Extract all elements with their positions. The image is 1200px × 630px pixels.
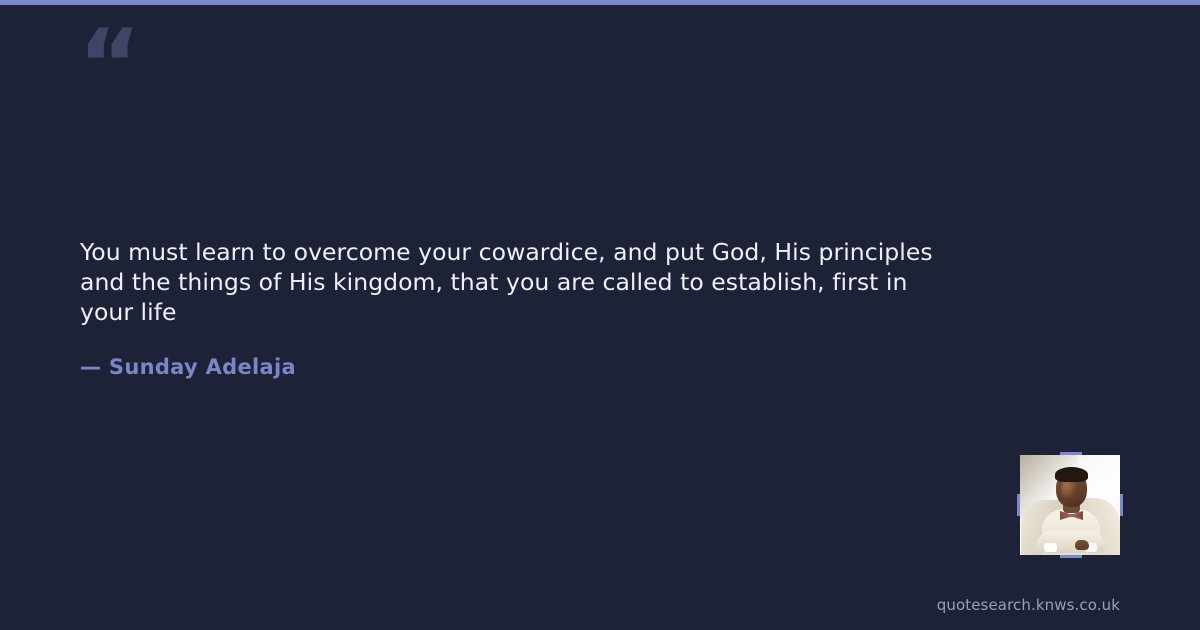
author-portrait-photo [1020,455,1120,555]
quote-text: You must learn to overcome your cowardic… [80,237,960,327]
open-quote-icon: “ [78,17,139,113]
quote-author: — Sunday Adelaja [80,352,296,382]
site-watermark: quotesearch.knws.co.uk [937,595,1120,615]
portrait-frame-tick-top [1060,452,1082,455]
quote-card: “ You must learn to overcome your coward… [0,5,1200,630]
author-portrait [1020,455,1120,555]
portrait-frame-tick-bottom [1060,555,1082,558]
portrait-frame-tick-right [1120,494,1123,516]
portrait-frame-tick-left [1017,494,1020,516]
